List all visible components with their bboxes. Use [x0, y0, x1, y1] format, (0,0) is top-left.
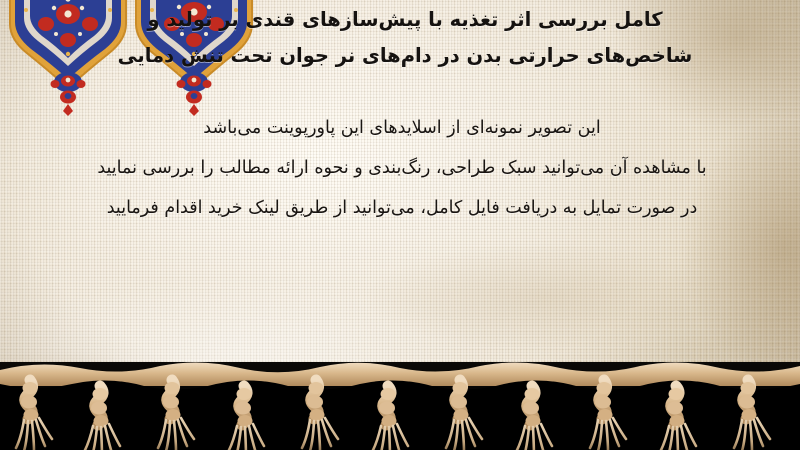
body-line-1: این تصویر نمونه‌ای از اسلایدهای این پاور… — [4, 108, 800, 148]
title-line-1: کامل بررسی اثر تغذیه با پیش‌سازهای قندی … — [10, 2, 800, 38]
slide-title: کامل بررسی اثر تغذیه با پیش‌سازهای قندی … — [0, 2, 800, 74]
slide-canvas: کامل بررسی اثر تغذیه با پیش‌سازهای قندی … — [0, 0, 800, 450]
body-line-3: در صورت تمایل به دریافت فایل کامل، می‌تو… — [4, 188, 800, 228]
slide-body: این تصویر نمونه‌ای از اسلایدهای این پاور… — [0, 108, 800, 228]
fringe-tassel-graphics — [0, 340, 800, 450]
title-line-2: شاخص‌های حرارتی بدن در دام‌های نر جوان ت… — [10, 38, 800, 74]
carpet-fringe-tassels — [0, 340, 800, 450]
body-line-2: با مشاهده آن می‌توانید سبک طراحی، رنگ‌بن… — [4, 148, 800, 188]
